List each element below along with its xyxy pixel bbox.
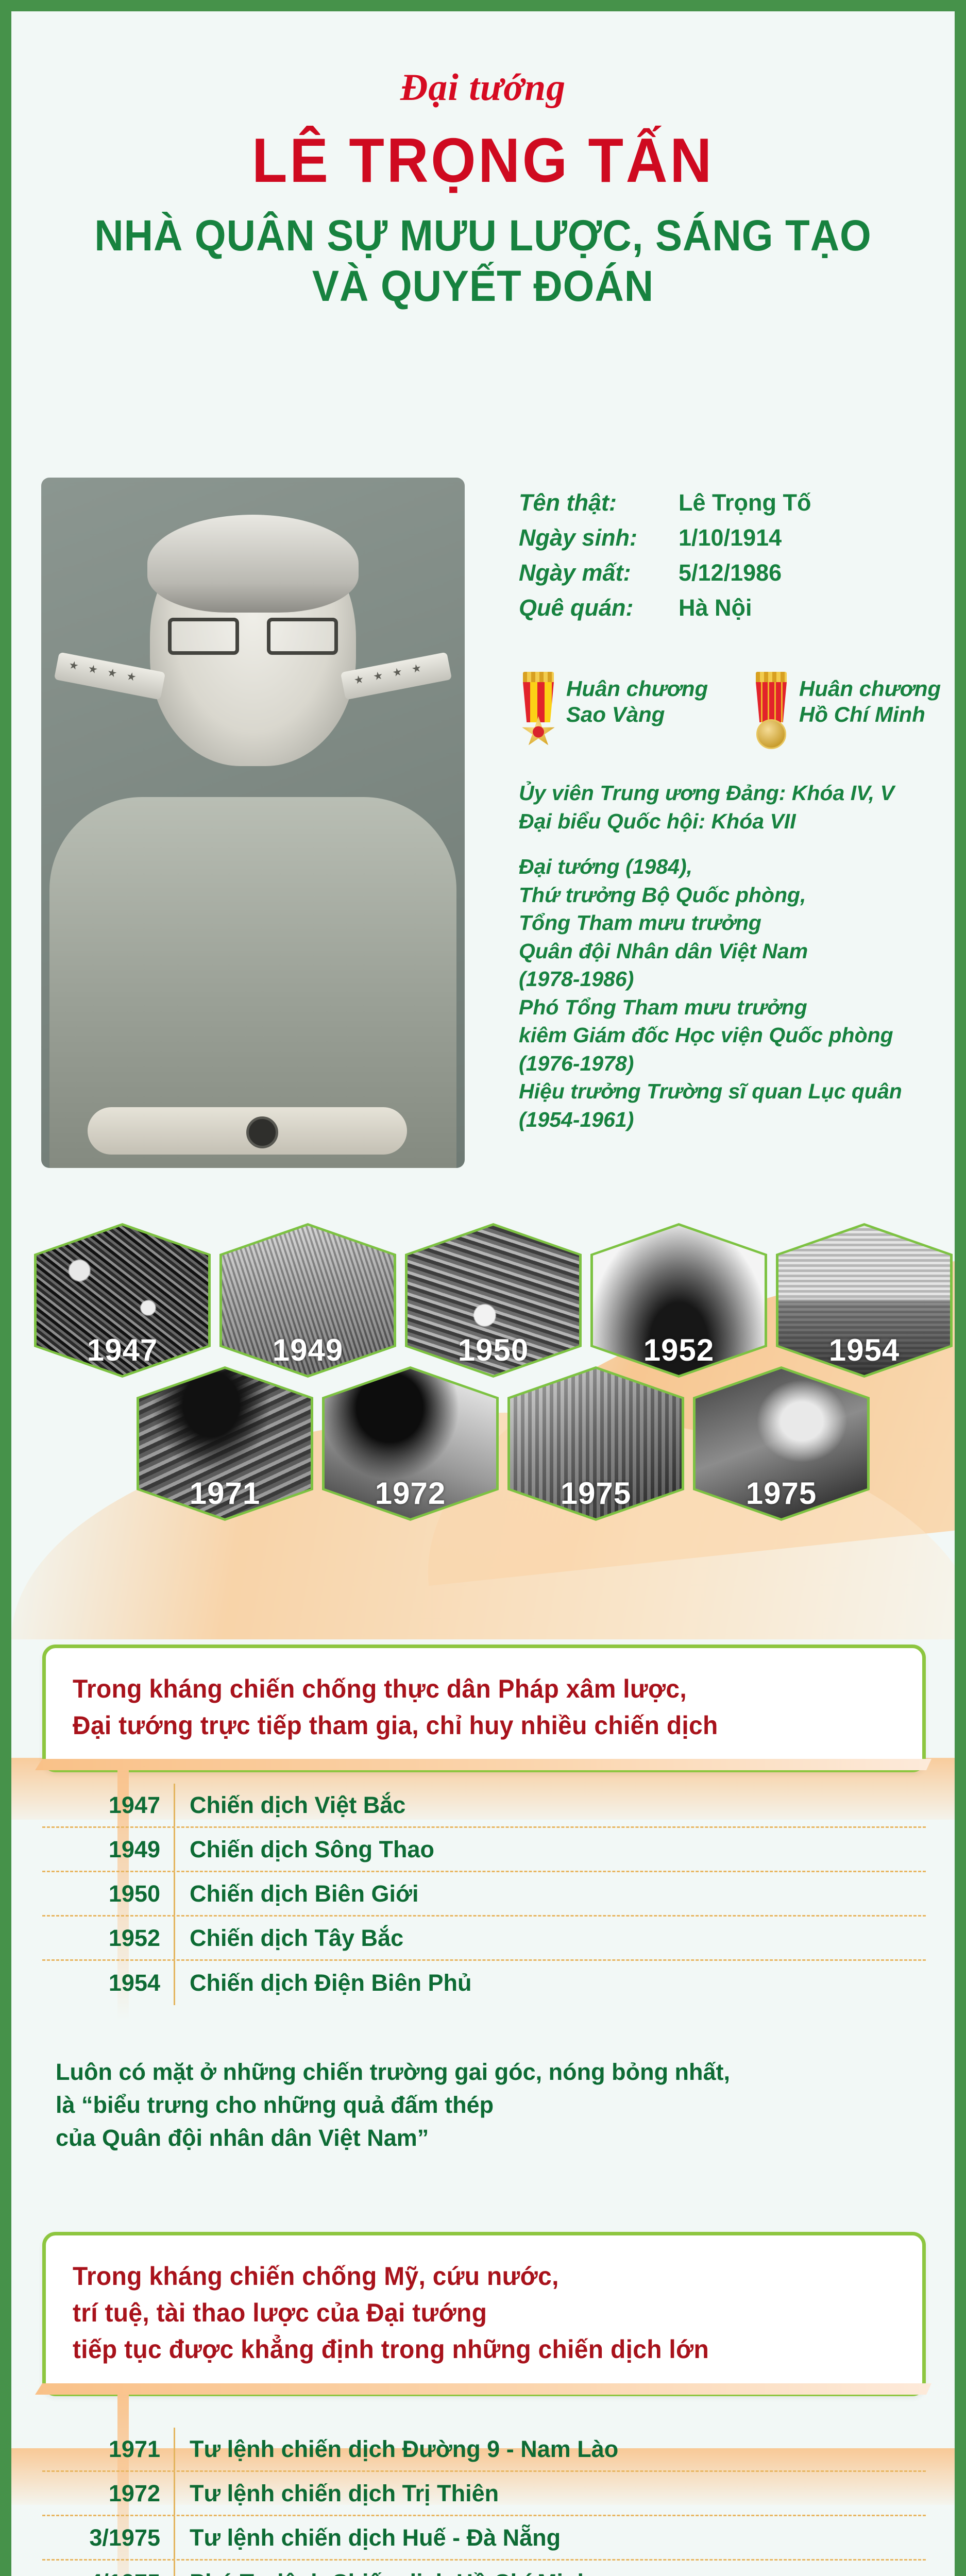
timeline-hex-1975-a[interactable]: 1975: [507, 1366, 684, 1521]
section-american-war: Trong kháng chiến chống Mỹ, cứu nước, tr…: [42, 2232, 926, 2396]
infographic-canvas: Đại tướng LÊ TRỌNG TẤN NHÀ QUÂN SỰ MƯU L…: [11, 11, 955, 2576]
page-title: LÊ TRỌNG TẤN: [49, 127, 917, 193]
role-line: Phó Tổng Tham mưu trưởng: [519, 993, 955, 1022]
role-line: (1954-1961): [519, 1106, 955, 1134]
wristwatch-icon: [246, 1116, 278, 1148]
hex-year-label: 1975: [696, 1476, 867, 1511]
table-row[interactable]: 1954 Chiến dịch Điện Biên Phủ: [42, 1961, 926, 2005]
quote-line-3: của Quân đội nhân dân Việt Nam”: [56, 2122, 890, 2155]
row-text: Chiến dịch Tây Bắc: [174, 1917, 926, 1959]
hex-year-label: 1972: [325, 1476, 496, 1511]
row-text: Chiến dịch Biên Giới: [174, 1872, 926, 1915]
role-line: (1978-1986): [519, 965, 955, 993]
fact-value: 5/12/1986: [679, 560, 782, 586]
role-line: Quân đội Nhân dân Việt Nam: [519, 937, 955, 965]
medal-label-line-2: Sao Vàng: [566, 702, 708, 727]
role-line: (1976-1978): [519, 1049, 955, 1078]
timeline-hex-1950[interactable]: 1950: [405, 1223, 582, 1378]
timeline-hex-1975-b[interactable]: 1975: [693, 1366, 870, 1521]
medal-label-line-2: Hồ Chí Minh: [799, 702, 941, 727]
fact-value: 1/10/1914: [679, 524, 782, 551]
table-row[interactable]: 1952 Chiến dịch Tây Bắc: [42, 1917, 926, 1961]
role-line: Đại tướng (1984),: [519, 853, 955, 881]
timeline-hex-1954[interactable]: 1954: [776, 1223, 953, 1378]
infographic-page: Đại tướng LÊ TRỌNG TẤN NHÀ QUÂN SỰ MƯU L…: [0, 0, 966, 2576]
portrait-photo: [41, 478, 465, 1168]
role-line: Hiệu trưởng Trường sĩ quan Lục quân: [519, 1077, 955, 1106]
title-kicker: Đại tướng: [11, 66, 955, 110]
hex-year-label: 1954: [778, 1332, 950, 1368]
timeline-hex-1947[interactable]: 1947: [34, 1223, 211, 1378]
role-national-assembly: Đại biểu Quốc hội: Khóa VII: [519, 807, 955, 836]
section-2-heading-line-3: tiếp tục được khẳng định trong những chi…: [73, 2331, 862, 2368]
row-year: 1952: [42, 1925, 174, 1952]
quote-line-1: Luôn có mặt ở những chiến trường gai góc…: [56, 2056, 890, 2089]
role-line: Tổng Tham mưu trưởng: [519, 909, 955, 937]
connector-bar: [35, 1759, 931, 1770]
timeline-hex-1972[interactable]: 1972: [322, 1366, 499, 1521]
section-2-campaign-list: 1971 Tư lệnh chiến dịch Đường 9 - Nam Là…: [42, 2428, 926, 2576]
timeline-hex-1949[interactable]: 1949: [219, 1223, 396, 1378]
table-row[interactable]: 1949 Chiến dịch Sông Thao: [42, 1828, 926, 1872]
row-text: Phó Tư lệnh Chiến dịch Hồ Chí Minh: [174, 2561, 926, 2576]
row-text: Chiến dịch Sông Thao: [174, 1828, 926, 1871]
fact-row-real-name: Tên thật: Lê Trọng Tố: [519, 489, 955, 516]
section-1-quote: Luôn có mặt ở những chiến trường gai góc…: [56, 2056, 890, 2155]
section-2-heading-line-1: Trong kháng chiến chống Mỹ, cứu nước,: [73, 2258, 862, 2295]
hex-year-label: 1975: [510, 1476, 682, 1511]
timeline-hex-1971[interactable]: 1971: [137, 1366, 313, 1521]
row-year: 1971: [42, 2436, 174, 2463]
table-row[interactable]: 1971 Tư lệnh chiến dịch Đường 9 - Nam Là…: [42, 2428, 926, 2472]
row-year: 1949: [42, 1836, 174, 1863]
timeline-hex-row-2: 1971 1972 1975 1975: [137, 1366, 870, 1521]
table-row[interactable]: 4/1975 Phó Tư lệnh Chiến dịch Hồ Chí Min…: [42, 2561, 926, 2576]
section-1-heading-line-2: Đại tướng trực tiếp tham gia, chỉ huy nh…: [73, 1707, 862, 1744]
row-text: Chiến dịch Việt Bắc: [174, 1784, 926, 1826]
fact-label: Ngày sinh:: [519, 524, 679, 551]
row-text: Tư lệnh chiến dịch Trị Thiên: [174, 2472, 926, 2515]
row-year: 1954: [42, 1970, 174, 1996]
fact-value: Hà Nội: [679, 595, 752, 621]
medal-label-line-1: Huân chương: [799, 676, 941, 702]
hair-shape: [147, 515, 359, 613]
medal-ho-chi-minh: Huân chương Hồ Chí Minh: [752, 672, 955, 749]
row-text: Tư lệnh chiến dịch Huế - Đà Nẵng: [174, 2516, 926, 2559]
row-year: 1972: [42, 2480, 174, 2507]
section-french-war: Trong kháng chiến chống thực dân Pháp xâ…: [42, 1645, 926, 1772]
section-1-heading-line-1: Trong kháng chiến chống thực dân Pháp xâ…: [73, 1671, 862, 1707]
ho-chi-minh-medal-icon: [752, 672, 791, 749]
table-row[interactable]: 3/1975 Tư lệnh chiến dịch Huế - Đà Nẵng: [42, 2516, 926, 2561]
medal-gold-star: Huân chương Sao Vàng: [519, 672, 727, 749]
fact-row-birth-date: Ngày sinh: 1/10/1914: [519, 524, 955, 551]
subtitle-line-1: NHÀ QUÂN SỰ MƯU LƯỢC, SÁNG TẠO: [44, 211, 922, 261]
row-text: Chiến dịch Điện Biên Phủ: [174, 1961, 926, 2005]
row-year: 1950: [42, 1880, 174, 1907]
fact-row-hometown: Quê quán: Hà Nội: [519, 595, 955, 621]
timeline-hex-row-1: 1947 1949 1950 1952 1954: [34, 1223, 953, 1378]
role-line: kiêm Giám đốc Học viện Quốc phòng: [519, 1021, 955, 1049]
section-1-heading-panel: Trong kháng chiến chống thực dân Pháp xâ…: [42, 1645, 926, 1772]
subtitle-line-2: VÀ QUYẾT ĐOÁN: [44, 261, 922, 311]
fact-label: Tên thật:: [519, 489, 679, 516]
section-2-heading-line-2: trí tuệ, tài thao lược của Đại tướng: [73, 2295, 862, 2331]
section-2-heading-panel: Trong kháng chiến chống Mỹ, cứu nước, tr…: [42, 2232, 926, 2396]
roles-block: Ủy viên Trung ương Đảng: Khóa IV, V Đại …: [519, 779, 955, 1133]
section-1-campaign-list: 1947 Chiến dịch Việt Bắc 1949 Chiến dịch…: [42, 1784, 926, 2005]
hex-year-label: 1952: [593, 1332, 765, 1368]
role-party-committee: Ủy viên Trung ương Đảng: Khóa IV, V: [519, 779, 955, 807]
hex-year-label: 1947: [37, 1332, 208, 1368]
hex-year-label: 1971: [139, 1476, 311, 1511]
hex-year-label: 1949: [222, 1332, 394, 1368]
header: Đại tướng LÊ TRỌNG TẤN NHÀ QUÂN SỰ MƯU L…: [11, 11, 955, 311]
glasses-icon: [168, 618, 338, 656]
quote-line-2: là “biểu trưng cho những quả đấm thép: [56, 2089, 890, 2122]
row-text: Tư lệnh chiến dịch Đường 9 - Nam Lào: [174, 2428, 926, 2470]
gold-star-medal-icon: [519, 672, 558, 749]
table-row[interactable]: 1950 Chiến dịch Biên Giới: [42, 1872, 926, 1917]
table-row[interactable]: 1947 Chiến dịch Việt Bắc: [42, 1784, 926, 1828]
fact-label: Quê quán:: [519, 595, 679, 621]
row-year: 1947: [42, 1792, 174, 1819]
epaulette-left: [54, 652, 165, 700]
epaulette-right: [341, 652, 452, 700]
timeline-hex-1952[interactable]: 1952: [590, 1223, 767, 1378]
fact-row-death-date: Ngày mất: 5/12/1986: [519, 560, 955, 586]
fact-value: Lê Trọng Tố: [679, 489, 811, 516]
table-row[interactable]: 1972 Tư lệnh chiến dịch Trị Thiên: [42, 2472, 926, 2516]
connector-bar: [35, 2383, 931, 2395]
row-year: 4/1975: [42, 2569, 174, 2576]
hex-year-label: 1950: [408, 1332, 579, 1368]
medal-label-line-1: Huân chương: [566, 676, 708, 702]
role-line: Thứ trưởng Bộ Quốc phòng,: [519, 881, 955, 909]
personal-details: Tên thật: Lê Trọng Tố Ngày sinh: 1/10/19…: [519, 489, 955, 630]
medals-list: Huân chương Sao Vàng Huân chương Hồ Chí …: [519, 672, 955, 749]
fact-label: Ngày mất:: [519, 560, 679, 586]
row-year: 3/1975: [42, 2524, 174, 2551]
